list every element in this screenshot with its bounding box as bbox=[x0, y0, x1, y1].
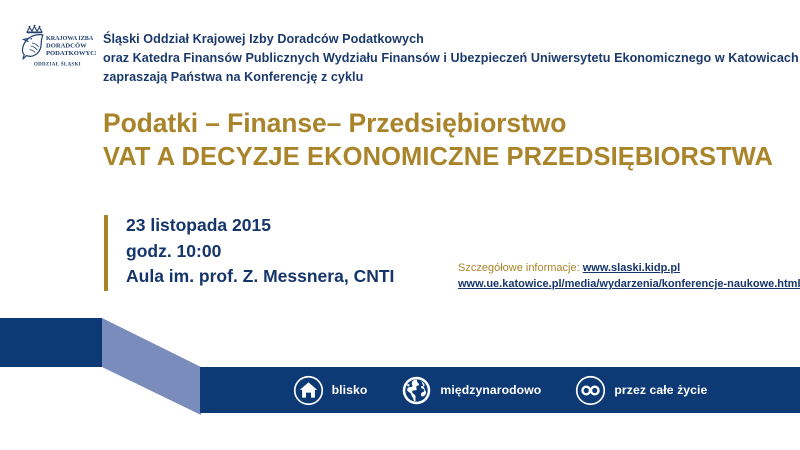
infinity-icon bbox=[575, 375, 606, 406]
conference-poster: KRAJOWA IZBA DORADCÓW PODATKOWYCH ODDZIA… bbox=[0, 0, 800, 450]
logo-subtitle: ODDZIAŁ ŚLĄSKI bbox=[34, 62, 81, 68]
feature-label-miedzynarodowo: międzynarodowo bbox=[440, 383, 541, 397]
kidp-logo: KRAJOWA IZBA DORADCÓW PODATKOWYCH ODDZIA… bbox=[10, 22, 96, 72]
venue-acronym: CNTI bbox=[354, 266, 395, 286]
details-accent-bar bbox=[104, 215, 108, 291]
header-line-2: oraz Katedra Finansów Publicznych Wydzia… bbox=[103, 49, 783, 68]
feature-label-przez-cale-zycie: przez całe życie bbox=[614, 383, 707, 397]
decor-block-left bbox=[0, 318, 102, 367]
feature-strip: blisko międzynarodowo przez całe życie bbox=[200, 367, 800, 413]
globe-icon bbox=[401, 375, 432, 406]
event-details: 23 listopada 2015 godz. 10:00 Aula im. p… bbox=[126, 213, 394, 290]
contact-info: Szczegółowe informacje: www.slaski.kidp.… bbox=[458, 260, 800, 292]
contact-line-1: Szczegółowe informacje: www.slaski.kidp.… bbox=[458, 262, 680, 274]
conference-title: Podatki – Finanse– Przedsiębiorstwo VAT … bbox=[103, 106, 793, 174]
organizers-header: Śląski Oddział Krajowej Izby Doradców Po… bbox=[103, 30, 783, 87]
logo-line-2: DORADCÓW bbox=[46, 41, 87, 49]
logo-line-1: KRAJOWA IZBA bbox=[46, 36, 94, 42]
title-topic: VAT A DECYZJE EKONOMICZNE PRZEDSIĘBIORST… bbox=[103, 140, 793, 174]
contact-label: Szczegółowe informacje: bbox=[458, 262, 583, 274]
event-date: 23 listopada 2015 bbox=[126, 213, 394, 239]
house-icon bbox=[293, 375, 324, 406]
contact-url-ue[interactable]: www.ue.katowice.pl/media/wydarzenia/konf… bbox=[458, 276, 800, 292]
feature-miedzynarodowo: międzynarodowo bbox=[401, 375, 541, 406]
logo-wordmark: KRAJOWA IZBA DORADCÓW PODATKOWYCH ODDZIA… bbox=[34, 36, 96, 68]
title-series: Podatki – Finanse– Przedsiębiorstwo bbox=[103, 106, 793, 140]
event-time: godz. 10:00 bbox=[126, 239, 394, 265]
header-line-1: Śląski Oddział Krajowej Izby Doradców Po… bbox=[103, 30, 783, 49]
venue-name: Aula im. prof. Z. Messnera, bbox=[126, 266, 354, 286]
feature-przez-cale-zycie: przez całe życie bbox=[575, 375, 707, 406]
eagle-crown-emblem bbox=[22, 25, 43, 59]
logo-line-3: PODATKOWYCH bbox=[46, 50, 96, 57]
contact-url-kidp[interactable]: www.slaski.kidp.pl bbox=[583, 262, 680, 274]
header-line-3: zapraszają Państwa na Konferencję z cykl… bbox=[103, 68, 783, 87]
feature-label-blisko: blisko bbox=[332, 383, 368, 397]
feature-blisko: blisko bbox=[293, 375, 368, 406]
event-venue: Aula im. prof. Z. Messnera, CNTI bbox=[126, 264, 394, 290]
decor-diagonal-band bbox=[100, 318, 201, 415]
